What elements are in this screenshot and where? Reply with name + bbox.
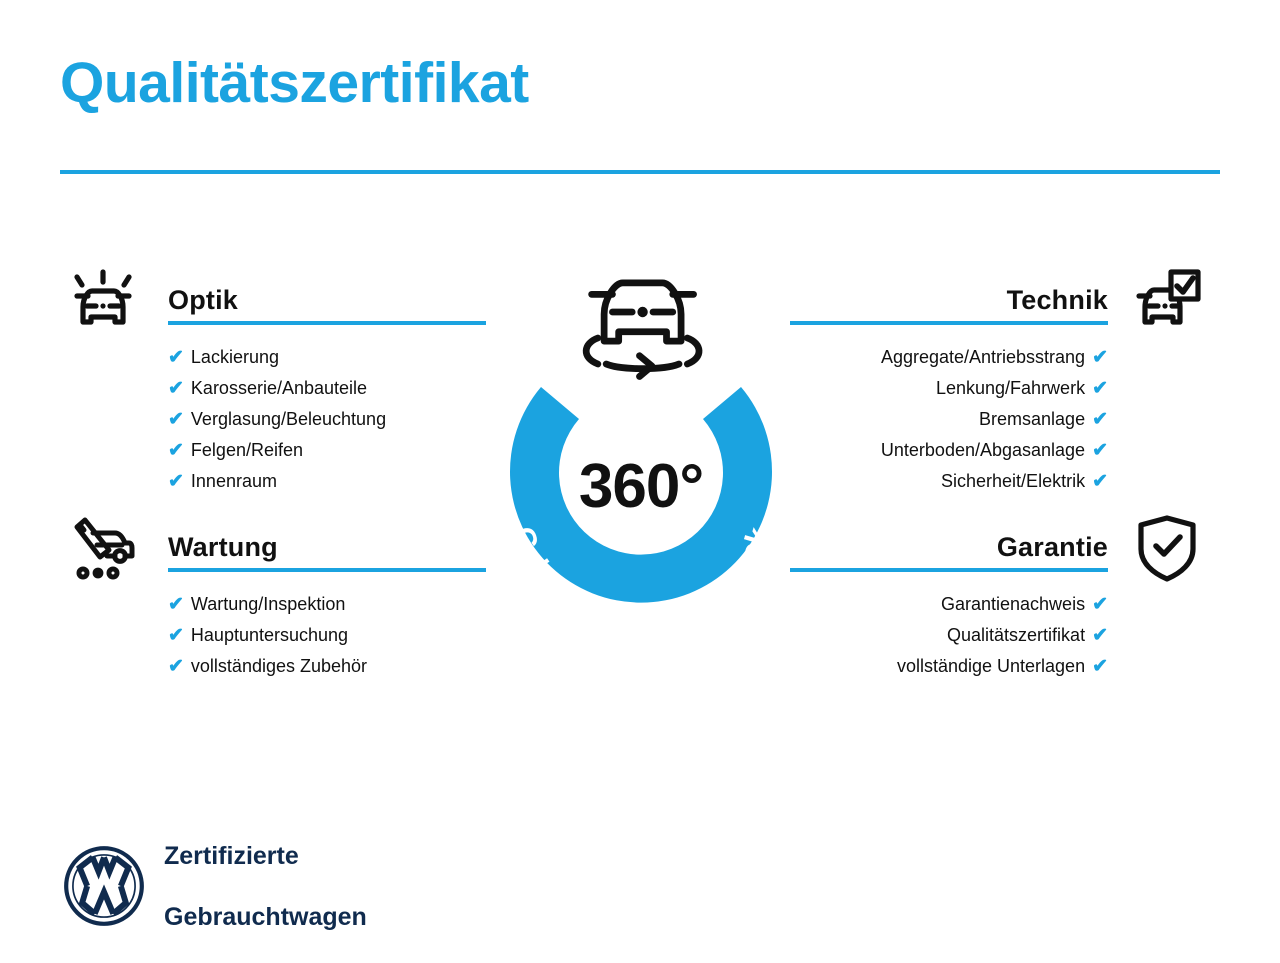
list-item: ✔Innenraum	[168, 466, 480, 497]
section-optik: Optik ✔Lackierung ✔Karosserie/Anbauteile…	[60, 258, 480, 497]
check-icon: ✔	[1092, 467, 1108, 497]
pen-car-service-icon	[60, 505, 146, 589]
list-item-label: Lackierung	[191, 342, 279, 372]
check-icon: ✔	[1092, 405, 1108, 435]
footer-brand-line2: Gebrauchtwagen	[164, 902, 367, 933]
section-underline-technik	[790, 321, 1108, 325]
list-item-label: Innenraum	[191, 466, 277, 496]
list-item-label: Aggregate/Antriebsstrang	[881, 342, 1085, 372]
section-underline-optik	[168, 321, 486, 325]
check-icon: ✔	[168, 405, 184, 435]
list-item: ✔Lackierung	[168, 342, 480, 373]
list-item: Qualitätszertifikat✔	[790, 620, 1108, 651]
list-item: ✔Karosserie/Anbauteile	[168, 373, 480, 404]
list-item: ✔Felgen/Reifen	[168, 435, 480, 466]
checklist-garantie: Garantienachweis✔ Qualitätszertifikat✔ v…	[790, 589, 1210, 682]
list-item: Aggregate/Antriebsstrang✔	[790, 342, 1108, 373]
list-item: ✔vollständiges Zubehör	[168, 651, 480, 682]
car-shine-icon	[60, 258, 146, 342]
checklist-optik: ✔Lackierung ✔Karosserie/Anbauteile ✔Verg…	[60, 342, 480, 497]
list-item: vollständige Unterlagen✔	[790, 651, 1108, 682]
section-title-garantie: Garantie	[997, 532, 1108, 563]
section-technik: Technik Aggregate/Antriebsstrang✔ Lenkun…	[790, 258, 1210, 497]
car-checkbox-icon	[1124, 258, 1210, 342]
list-item-label: Unterboden/Abgasanlage	[881, 435, 1085, 465]
check-icon: ✔	[1092, 436, 1108, 466]
section-underline-garantie	[790, 568, 1108, 572]
checklist-technik: Aggregate/Antriebsstrang✔ Lenkung/Fahrwe…	[790, 342, 1210, 497]
shield-check-icon	[1124, 505, 1210, 589]
footer-brand-text: Zertifizierte Gebrauchtwagen	[164, 810, 367, 963]
section-header-wartung: Wartung	[60, 505, 480, 589]
section-wartung: Wartung ✔Wartung/Inspektion ✔Hauptunters…	[60, 505, 480, 682]
check-icon: ✔	[168, 621, 184, 651]
list-item-label: Verglasung/Beleuchtung	[191, 404, 386, 434]
section-title-optik: Optik	[168, 285, 238, 316]
list-item-label: Bremsanlage	[979, 404, 1085, 434]
check-icon: ✔	[168, 590, 184, 620]
check-icon: ✔	[1092, 652, 1108, 682]
page-title: Qualitätszertifikat	[60, 52, 529, 115]
list-item: Bremsanlage✔	[790, 404, 1108, 435]
checklist-wartung: ✔Wartung/Inspektion ✔Hauptuntersuchung ✔…	[60, 589, 480, 682]
badge-360-gebrauchtwagen-check: Gebrauchtwagen-Check 360°	[466, 255, 816, 640]
check-icon: ✔	[168, 374, 184, 404]
footer-brand: Zertifizierte Gebrauchtwagen	[62, 810, 367, 963]
check-icon: ✔	[168, 467, 184, 497]
list-item: ✔Hauptuntersuchung	[168, 620, 480, 651]
list-item-label: Qualitätszertifikat	[947, 620, 1085, 650]
list-item-label: vollständiges Zubehör	[191, 651, 367, 681]
section-header-garantie: Garantie	[790, 505, 1210, 589]
list-item-label: Karosserie/Anbauteile	[191, 373, 367, 403]
check-icon: ✔	[168, 343, 184, 373]
list-item-label: Garantienachweis	[941, 589, 1085, 619]
list-item-label: Sicherheit/Elektrik	[941, 466, 1085, 496]
list-item: ✔Wartung/Inspektion	[168, 589, 480, 620]
list-item-label: Lenkung/Fahrwerk	[936, 373, 1085, 403]
check-icon: ✔	[168, 436, 184, 466]
list-item: Unterboden/Abgasanlage✔	[790, 435, 1108, 466]
list-item: Garantienachweis✔	[790, 589, 1108, 620]
check-icon: ✔	[1092, 374, 1108, 404]
list-item-label: vollständige Unterlagen	[897, 651, 1085, 681]
list-item: ✔Verglasung/Beleuchtung	[168, 404, 480, 435]
check-icon: ✔	[1092, 343, 1108, 373]
section-title-technik: Technik	[1007, 285, 1108, 316]
section-header-optik: Optik	[60, 258, 480, 342]
list-item-label: Hauptuntersuchung	[191, 620, 348, 650]
check-icon: ✔	[1092, 621, 1108, 651]
badge-center-value: 360°	[466, 451, 816, 522]
list-item-label: Wartung/Inspektion	[191, 589, 345, 619]
check-icon: ✔	[168, 652, 184, 682]
section-title-wartung: Wartung	[168, 532, 278, 563]
footer-brand-line1: Zertifizierte	[164, 841, 367, 872]
list-item-label: Felgen/Reifen	[191, 435, 303, 465]
section-garantie: Garantie Garantienachweis✔ Qualitätszert…	[790, 505, 1210, 682]
header-divider	[60, 170, 1220, 174]
section-underline-wartung	[168, 568, 486, 572]
check-icon: ✔	[1092, 590, 1108, 620]
list-item: Sicherheit/Elektrik✔	[790, 466, 1108, 497]
volkswagen-logo-icon	[62, 844, 146, 928]
list-item: Lenkung/Fahrwerk✔	[790, 373, 1108, 404]
car-rotation-icon	[586, 283, 699, 377]
section-header-technik: Technik	[790, 258, 1210, 342]
